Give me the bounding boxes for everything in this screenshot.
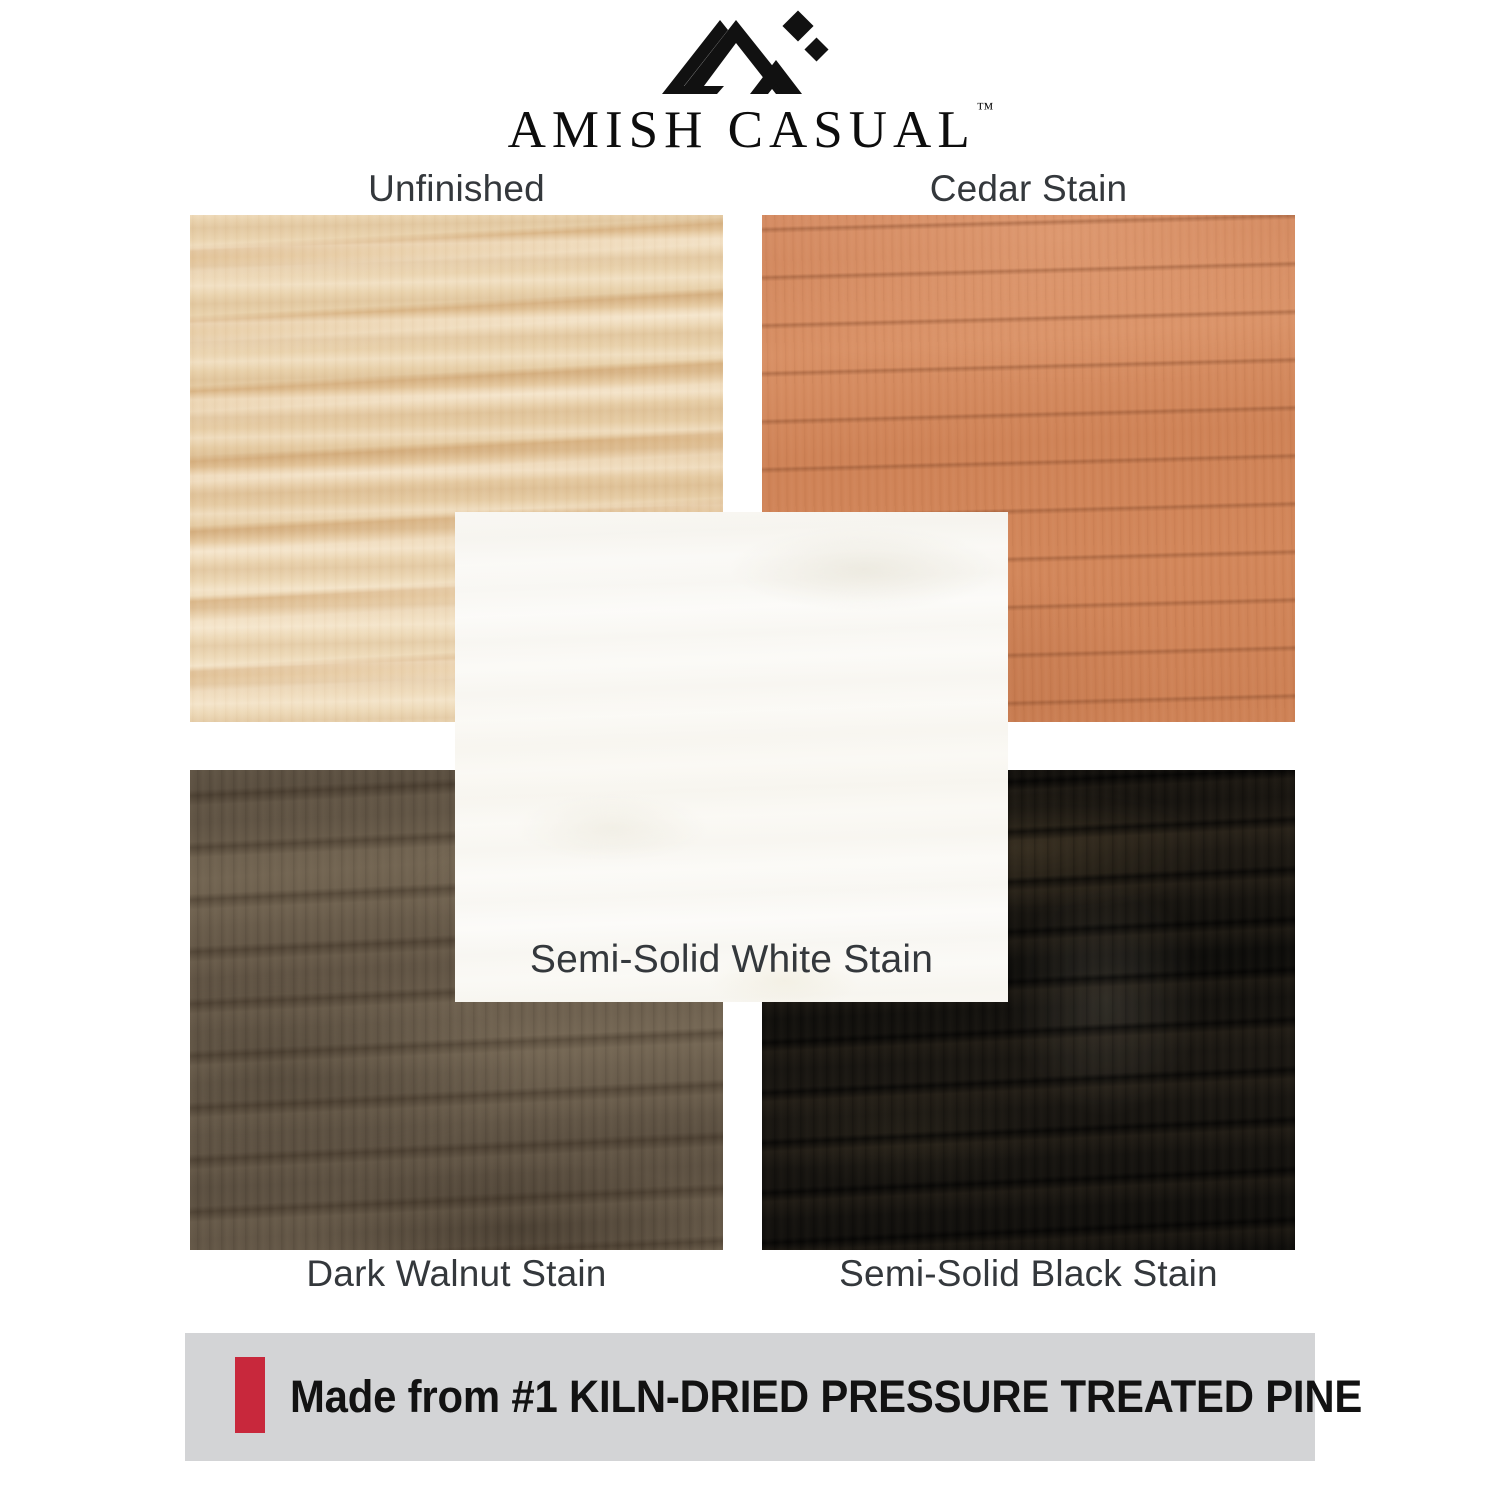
brand-wordmark: AMISH CASUAL™ <box>508 100 993 160</box>
material-banner: Made from #1 KILN-DRIED PRESSURE TREATED… <box>185 1333 1315 1461</box>
swatch-label-cedar-stain: Cedar Stain <box>762 168 1295 210</box>
material-banner-text: Made from #1 KILN-DRIED PRESSURE TREATED… <box>290 1333 1362 1461</box>
swatch-label-dark-walnut-stain: Dark Walnut Stain <box>190 1253 723 1295</box>
accent-bar <box>235 1357 265 1433</box>
brand-logo: AMISH CASUAL™ <box>0 10 1500 160</box>
stain-color-chart: AMISH CASUAL™ Unfinished Cedar Stain Sem… <box>0 0 1500 1500</box>
swatch-label-semi-solid-black-stain: Semi-Solid Black Stain <box>762 1253 1295 1295</box>
brand-name: AMISH CASUAL <box>508 101 976 159</box>
trademark-symbol: ™ <box>977 99 994 118</box>
wood-grain-blotches <box>455 512 1008 1002</box>
swatch-label-semi-solid-white-stain: Semi-Solid White Stain <box>455 938 1008 982</box>
mountain-chevron-logo-icon <box>662 10 838 94</box>
swatch-semi-solid-white-stain[interactable] <box>455 512 1008 1002</box>
swatch-label-unfinished: Unfinished <box>190 168 723 210</box>
